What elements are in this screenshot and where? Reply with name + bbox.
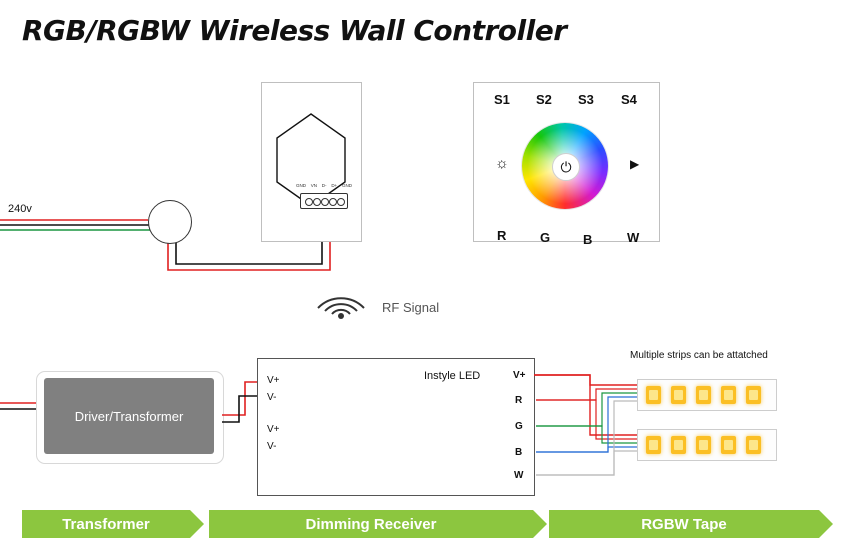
banner-label: Dimming Receiver — [306, 516, 437, 533]
led-strip-2 — [637, 429, 777, 461]
led-chip — [746, 436, 761, 454]
led-chip — [696, 436, 711, 454]
receiver-terminal-vplus-1: V+ — [267, 375, 280, 386]
page-title: RGB/RGBW Wireless Wall Controller — [22, 14, 567, 47]
led-chip — [721, 386, 736, 404]
led-chip — [646, 386, 661, 404]
channel-label-r: R — [497, 228, 506, 243]
junction-box — [148, 200, 192, 244]
power-button[interactable]: ⏻ — [552, 153, 580, 181]
receiver-output-r: R — [515, 395, 522, 406]
terminal-dot — [329, 198, 337, 206]
driver-label: Driver/Transformer — [44, 378, 214, 454]
banner-label: Transformer — [62, 516, 150, 533]
channel-label-g: G — [540, 230, 550, 245]
channel-label-b: B — [583, 232, 592, 247]
led-chip — [721, 436, 736, 454]
terminal-label-gnd-1: GND — [296, 183, 306, 188]
led-chip — [671, 386, 686, 404]
rf-signal-icon — [310, 292, 372, 320]
led-chip — [746, 386, 761, 404]
led-chip — [696, 386, 711, 404]
play-icon[interactable]: ▶ — [630, 157, 639, 171]
power-icon: ⏻ — [560, 160, 571, 174]
terminal-label-vn: VN — [311, 183, 317, 188]
receiver-output-b: B — [515, 447, 522, 458]
banner-label: RGBW Tape — [641, 516, 727, 533]
terminal-dot — [321, 198, 329, 206]
scene-button-s1[interactable]: S1 — [494, 92, 510, 107]
banner-dimming-receiver: Dimming Receiver — [209, 510, 533, 538]
dimming-receiver-body — [257, 358, 535, 496]
led-strip-1 — [637, 379, 777, 411]
terminal-label-dminus: D- — [322, 183, 327, 188]
terminal-label-dplus: D+ — [331, 183, 337, 188]
banner-transformer: Transformer — [22, 510, 190, 538]
receiver-terminal-vminus-2: V- — [267, 441, 276, 452]
led-chip — [646, 436, 661, 454]
receiver-output-vplus: V+ — [513, 370, 526, 381]
scene-button-s2[interactable]: S2 — [536, 92, 552, 107]
multiple-strips-note: Multiple strips can be attatched — [630, 350, 768, 361]
receiver-output-g: G — [515, 421, 523, 432]
receiver-terminal-vminus-1: V- — [267, 392, 276, 403]
terminal-label-gnd-2: GND — [342, 183, 352, 188]
brightness-sun-icon[interactable]: ☼ — [495, 155, 509, 172]
channel-label-w: W — [627, 230, 639, 245]
receiver-brand-label: Instyle LED — [424, 370, 480, 382]
led-chip — [671, 436, 686, 454]
terminal-dot — [337, 198, 345, 206]
receiver-terminal-vplus-2: V+ — [267, 424, 280, 435]
receiver-to-strip-wiring — [530, 355, 650, 485]
terminal-dot — [313, 198, 321, 206]
rf-terminal-block — [300, 193, 348, 209]
rf-signal-label: RF Signal — [382, 300, 439, 315]
scene-button-s3[interactable]: S3 — [578, 92, 594, 107]
banner-rgbw-tape: RGBW Tape — [549, 510, 819, 538]
rf-terminal-labels: GND VN D- D+ GND — [296, 183, 352, 188]
terminal-dot — [305, 198, 313, 206]
driver-input-wiring — [0, 395, 40, 425]
receiver-output-w: W — [514, 470, 523, 481]
scene-button-s4[interactable]: S4 — [621, 92, 637, 107]
